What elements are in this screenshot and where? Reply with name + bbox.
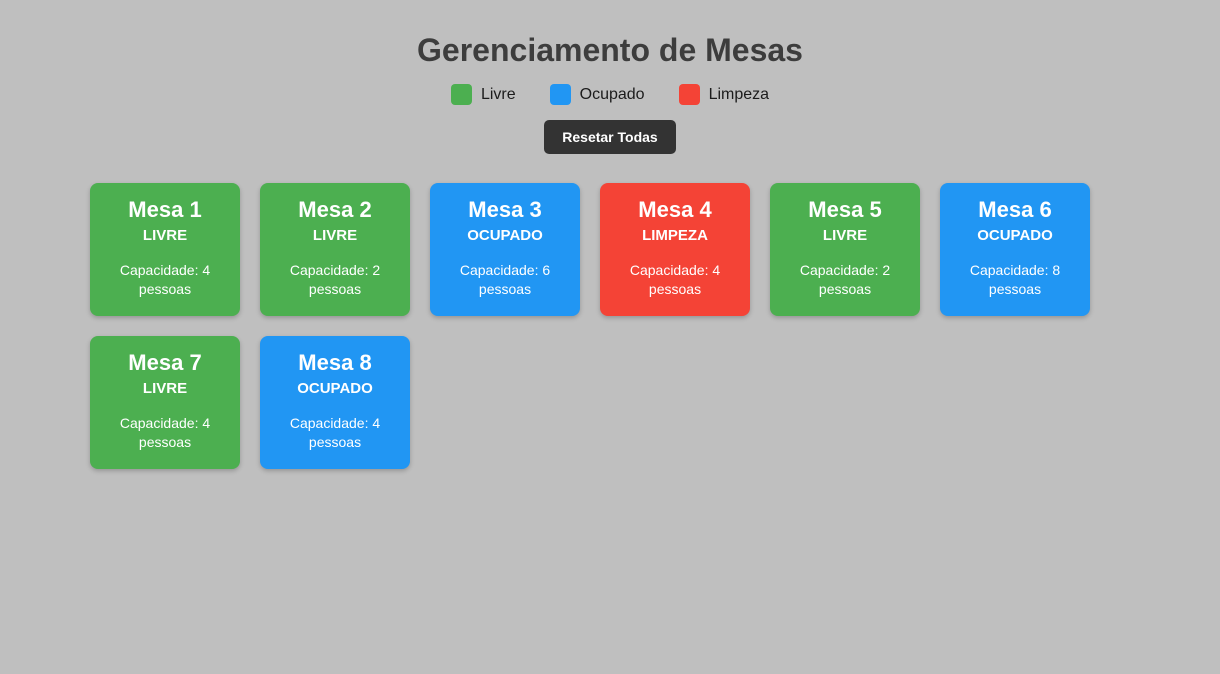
table-status-badge: LIVRE — [823, 226, 867, 246]
page-title: Gerenciamento de Mesas — [0, 0, 1220, 70]
table-capacity: Capacidade: 2 pessoas — [781, 261, 909, 299]
table-status-badge: LIVRE — [143, 226, 187, 246]
tables-grid: Mesa 1LIVRECapacidade: 4 pessoasMesa 2LI… — [0, 154, 1130, 469]
legend-label: Limpeza — [709, 85, 769, 105]
table-name: Mesa 7 — [128, 350, 201, 376]
table-card[interactable]: Mesa 5LIVRECapacidade: 2 pessoas — [770, 183, 920, 316]
legend-item-ocupado: Ocupado — [550, 84, 645, 105]
table-name: Mesa 3 — [468, 197, 541, 223]
table-status-badge: OCUPADO — [977, 226, 1053, 246]
table-card[interactable]: Mesa 4LIMPEZACapacidade: 4 pessoas — [600, 183, 750, 316]
table-card[interactable]: Mesa 6OCUPADOCapacidade: 8 pessoas — [940, 183, 1090, 316]
table-management-page: Gerenciamento de Mesas LivreOcupadoLimpe… — [0, 0, 1220, 674]
square-swatch-icon — [451, 84, 472, 105]
reset-all-button[interactable]: Resetar Todas — [544, 120, 675, 154]
table-name: Mesa 6 — [978, 197, 1051, 223]
square-swatch-icon — [679, 84, 700, 105]
legend-label: Livre — [481, 85, 516, 105]
status-legend: LivreOcupadoLimpeza — [0, 84, 1220, 105]
table-status-badge: LIVRE — [313, 226, 357, 246]
table-capacity: Capacidade: 6 pessoas — [441, 261, 569, 299]
table-name: Mesa 5 — [808, 197, 881, 223]
table-capacity: Capacidade: 4 pessoas — [101, 261, 229, 299]
table-name: Mesa 1 — [128, 197, 201, 223]
table-status-badge: LIVRE — [143, 379, 187, 399]
square-swatch-icon — [550, 84, 571, 105]
table-name: Mesa 2 — [298, 197, 371, 223]
table-card[interactable]: Mesa 7LIVRECapacidade: 4 pessoas — [90, 336, 240, 469]
table-capacity: Capacidade: 4 pessoas — [611, 261, 739, 299]
table-card[interactable]: Mesa 3OCUPADOCapacidade: 6 pessoas — [430, 183, 580, 316]
table-card[interactable]: Mesa 1LIVRECapacidade: 4 pessoas — [90, 183, 240, 316]
table-status-badge: OCUPADO — [467, 226, 543, 246]
table-card[interactable]: Mesa 2LIVRECapacidade: 2 pessoas — [260, 183, 410, 316]
table-capacity: Capacidade: 2 pessoas — [271, 261, 399, 299]
legend-label: Ocupado — [580, 85, 645, 105]
table-name: Mesa 4 — [638, 197, 711, 223]
table-name: Mesa 8 — [298, 350, 371, 376]
table-capacity: Capacidade: 4 pessoas — [271, 414, 399, 452]
table-capacity: Capacidade: 8 pessoas — [951, 261, 1079, 299]
table-capacity: Capacidade: 4 pessoas — [101, 414, 229, 452]
toolbar: Resetar Todas — [0, 120, 1220, 154]
table-status-badge: OCUPADO — [297, 379, 373, 399]
legend-item-limpeza: Limpeza — [679, 84, 769, 105]
table-status-badge: LIMPEZA — [642, 226, 708, 246]
table-card[interactable]: Mesa 8OCUPADOCapacidade: 4 pessoas — [260, 336, 410, 469]
legend-item-livre: Livre — [451, 84, 516, 105]
